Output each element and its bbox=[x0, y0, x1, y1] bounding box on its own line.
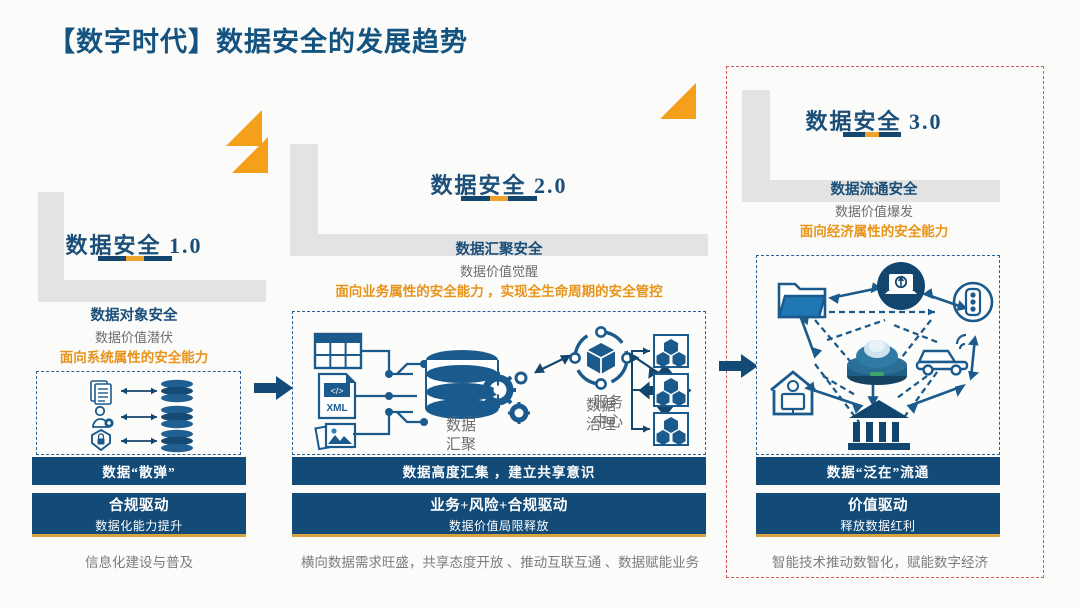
stage1-caption: 信息化建设与普及 bbox=[18, 551, 260, 571]
stage3-illustration-panel bbox=[756, 255, 1000, 455]
stage1-subtext-group: 数据对象安全 数据价值潜伏 面向系统属性的安全能力 bbox=[18, 306, 250, 369]
hub-device-icon bbox=[847, 340, 907, 385]
cube-box-icon bbox=[654, 335, 688, 445]
stage1-sub-secondary: 数据价值潜伏 bbox=[18, 328, 250, 348]
database-stack-icon bbox=[161, 380, 193, 452]
stage2-caption: 横向数据需求旺盛，共享态度开放 、推动互联互通 、数据赋能业务 bbox=[272, 551, 728, 571]
stage1-sub-primary: 数据对象安全 bbox=[18, 306, 250, 328]
stage3-heading-label: 数据安全 bbox=[805, 109, 901, 134]
stage2-heading-version: 2.0 bbox=[534, 173, 568, 198]
gear-icon bbox=[480, 372, 530, 424]
service-label-line2: 中心 bbox=[593, 413, 623, 430]
svg-text:</>: </> bbox=[330, 386, 343, 396]
stage1-heading-version: 1.0 bbox=[169, 233, 203, 258]
xml-file-icon: </> XML bbox=[319, 374, 355, 418]
smart-home-icon bbox=[771, 372, 815, 414]
stage1-heading-underline bbox=[98, 256, 172, 261]
stage1-illustration-panel bbox=[36, 371, 241, 455]
folder-icon bbox=[779, 284, 825, 317]
cube-orbit-icon bbox=[570, 327, 631, 388]
stage3-sub-highlight: 面向经济属性的安全能力 bbox=[742, 221, 1006, 243]
stage3-driver-bar: 价值驱动 释放数据红利 bbox=[756, 493, 1000, 537]
stage2-driver-subtitle: 数据价值局限释放 bbox=[449, 517, 549, 534]
stage2-sub-secondary: 数据价值觉醒 bbox=[290, 262, 708, 282]
stage3-state-bar: 数据“泛在”流通 bbox=[756, 457, 1000, 485]
table-grid-icon bbox=[315, 334, 361, 368]
stage2-driver-title: 业务+风险+合规驱动 bbox=[430, 494, 568, 515]
stage3-sub-secondary: 数据价值爆发 bbox=[742, 202, 1006, 222]
stage2-driver-bar: 业务+风险+合规驱动 数据价值局限释放 bbox=[292, 493, 706, 537]
stage2-cube-boxes bbox=[630, 327, 710, 453]
user-gear-icon bbox=[93, 407, 114, 428]
network-dashed-arrowheads bbox=[819, 309, 935, 316]
stage2-triangle-accent bbox=[226, 110, 262, 146]
aggregate-label-line1: 数据 bbox=[446, 417, 476, 434]
arrow-db-governance bbox=[536, 356, 569, 372]
stage-1-column: 数据安全 1.0 数据对象安全 数据价值潜伏 面向系统属性的安全能力 bbox=[0, 0, 300, 608]
stage3-triangle-accent bbox=[660, 83, 696, 119]
stage-3-column: 数据安全 3.0 数据流通安全 数据价值爆发 面向经济属性的安全能力 bbox=[748, 0, 1038, 608]
stage3-illustration bbox=[757, 256, 1001, 456]
xml-label: XML bbox=[326, 403, 347, 414]
aggregate-label-line2: 汇聚 bbox=[446, 436, 476, 453]
stage1-driver-title: 合规驱动 bbox=[109, 494, 169, 515]
stage1-driver-bar: 合规驱动 数据化能力提升 bbox=[32, 493, 246, 537]
stage1-sub-highlight: 面向系统属性的安全能力 bbox=[18, 347, 250, 369]
stage1-heading-label: 数据安全 bbox=[65, 233, 161, 258]
stage2-state-bar: 数据高度汇集 ，建立共享意识 bbox=[292, 457, 706, 485]
wifi-waves bbox=[957, 335, 966, 349]
circuit-nodes bbox=[385, 360, 428, 426]
photos-icon bbox=[315, 424, 355, 449]
connected-car-icon bbox=[917, 335, 967, 374]
stage2-subtext-group: 数据汇聚安全 数据价值觉醒 面向业务属性的安全能力 ，实现全生命周期的安全管控 bbox=[290, 240, 708, 303]
laptop-circle-icon bbox=[877, 262, 925, 310]
slide-root: 【数字时代】数据安全的发展趋势 数据安全 1.0 数据对象安全 数据价值潜伏 面… bbox=[0, 0, 1080, 608]
stage3-sub-primary: 数据流通安全 bbox=[742, 180, 1006, 202]
stage1-illustration bbox=[37, 372, 242, 456]
stage2-sub-primary: 数据汇聚安全 bbox=[290, 240, 708, 262]
stage3-driver-title: 价值驱动 bbox=[848, 494, 908, 515]
stage3-heading-version: 3.0 bbox=[909, 109, 943, 134]
fanout-arrowheads bbox=[643, 347, 650, 432]
stage3-driver-subtitle: 释放数据红利 bbox=[840, 517, 915, 534]
document-icon bbox=[91, 381, 111, 404]
stage3-caption: 智能技术推动数智化，赋能数字经济 bbox=[740, 551, 1020, 571]
stage2-heading-label: 数据安全 bbox=[430, 173, 526, 198]
stage1-driver-subtitle: 数据化能力提升 bbox=[95, 517, 183, 534]
stage3-subtext-group: 数据流通安全 数据价值爆发 面向经济属性的安全能力 bbox=[742, 180, 1006, 243]
stage3-heading-underline bbox=[843, 132, 901, 137]
stage1-state-bar: 数据“散弹” bbox=[32, 457, 246, 485]
stage-2-column: 数据安全 2.0 数据汇聚安全 数据价值觉醒 面向业务属性的安全能力 ，实现全生… bbox=[280, 0, 720, 608]
stage2-sub-highlight: 面向业务属性的安全能力 ，实现全生命周期的安全管控 bbox=[290, 281, 708, 303]
stage2-heading-underline bbox=[461, 196, 537, 201]
shield-lock-icon bbox=[92, 430, 110, 450]
service-label-line1: 服务 bbox=[593, 394, 623, 411]
